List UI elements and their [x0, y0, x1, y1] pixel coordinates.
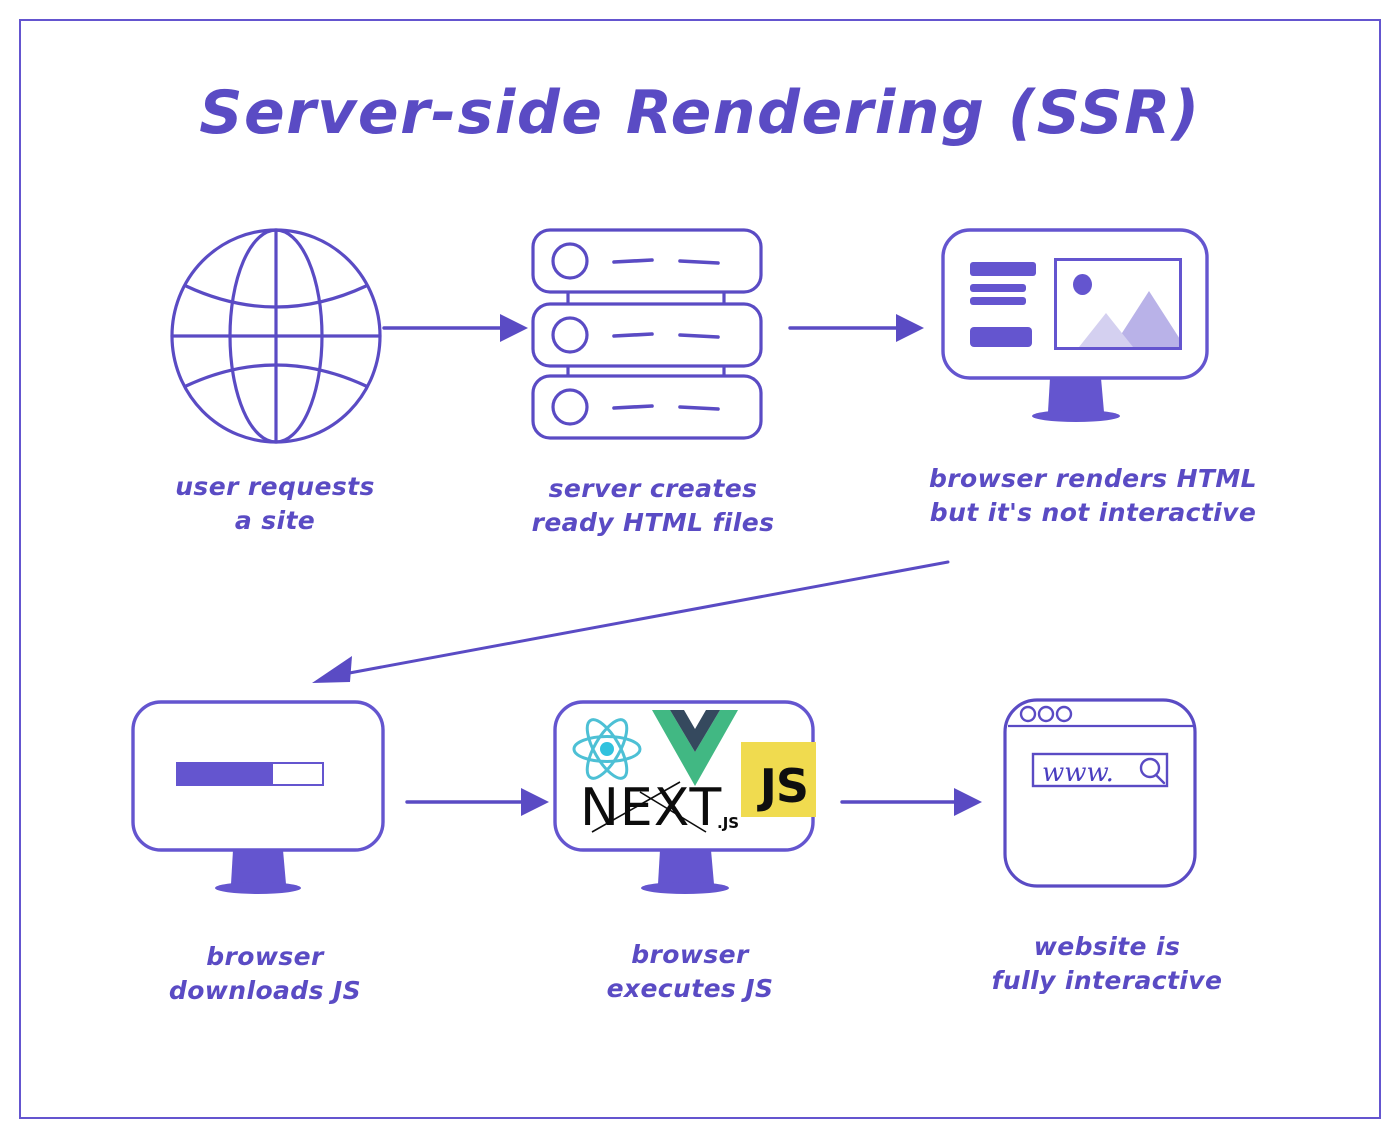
progress-bar-widget [128, 698, 390, 850]
image-placeholder-icon [1054, 258, 1182, 350]
content-button [970, 327, 1032, 347]
page-title: Server-side Rendering (SSR) [0, 78, 1400, 148]
nextjs-wordmark-suffix: .JS [717, 816, 739, 831]
nextjs-logo-icon: NEXT .JS [580, 780, 762, 842]
server-stack-icon [528, 226, 768, 442]
content-line-1 [970, 284, 1026, 292]
progress-track [176, 762, 324, 786]
caption-browser-downloads: browser downloads JS [120, 940, 410, 1008]
caption-website-interactive: website is fully interactive [962, 930, 1252, 998]
caption-browser-renders: browser renders HTML but it's not intera… [898, 462, 1288, 530]
monitor-frameworks-icon: JS NEXT .JS [550, 698, 822, 902]
monitor-progress-bar-icon [128, 698, 390, 902]
arrow-server-to-monitor [788, 308, 928, 348]
arrow-globe-to-server [382, 308, 532, 348]
caption-server-creates: server creates ready HTML files [508, 472, 798, 540]
diagram-canvas: Server-side Rendering (SSR) [0, 0, 1400, 1138]
globe-icon [168, 224, 384, 448]
content-line-2 [970, 297, 1026, 305]
progress-fill [178, 764, 273, 784]
caption-user-requests: user requests a site [130, 470, 420, 538]
mountain-front [1079, 313, 1133, 347]
caption-browser-executes: browser executes JS [545, 938, 835, 1006]
sun-shape [1073, 274, 1092, 295]
vue-logo-icon [652, 710, 738, 788]
rendered-page-content [938, 226, 1214, 378]
monitor-rendered-page-icon [938, 226, 1214, 434]
arrow-monitor-to-downloads [300, 548, 980, 698]
javascript-logo-label: JS [760, 763, 816, 817]
arrow-downloads-to-executes [405, 782, 555, 822]
nextjs-wordmark-text: NEXT [580, 782, 722, 834]
browser-window-icon: www. [1000, 696, 1202, 892]
react-logo-icon [570, 712, 644, 786]
address-bar-value[interactable]: www. [1042, 760, 1114, 786]
content-heading-bar [970, 262, 1036, 276]
arrow-executes-to-website [840, 782, 988, 822]
